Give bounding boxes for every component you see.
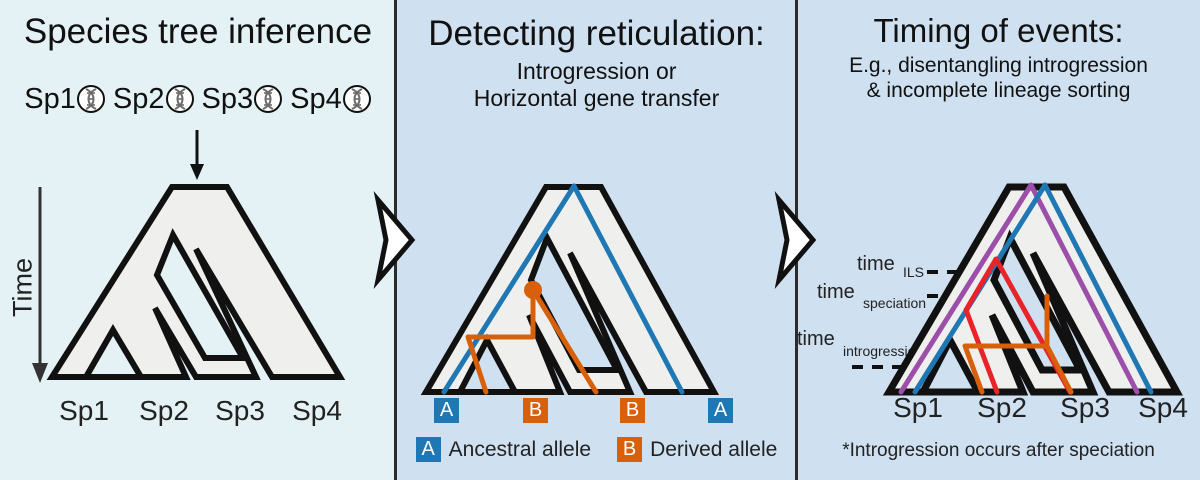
legend-chip-derived: B: [617, 437, 642, 462]
tip-allele-sp4: A: [708, 398, 733, 423]
legend-label-derived: Derived allele: [650, 438, 777, 462]
middle-panel-subtitle: Introgression or Horizontal gene transfe…: [396, 58, 797, 112]
dna-helix-icon: [76, 82, 106, 116]
tip-label-sp4: Sp4: [285, 395, 349, 427]
legend-chip-ancestral: A: [416, 437, 441, 462]
panel-species-tree-inference: Species tree inference Sp1 Sp2: [0, 0, 396, 480]
panel-timing-of-events: Timing of events: E.g., disentangling in…: [797, 0, 1200, 480]
species-sample-row: Sp1 Sp2: [0, 82, 396, 116]
dna-helix-icon: [253, 82, 283, 116]
middle-subtitle-line-2: Horizontal gene transfer: [396, 85, 797, 112]
tip-allele-sp1: A: [434, 398, 459, 423]
timing-tree-diagram: [887, 180, 1197, 410]
tip-label-sp3: Sp3: [1050, 392, 1120, 424]
legend-item-ancestral: A Ancestral allele: [416, 437, 591, 462]
time-marker-introgression-label: time: [797, 328, 835, 350]
dna-helix-icon: [342, 82, 372, 116]
tip-allele-sp3: B: [620, 398, 645, 423]
right-subtitle-line-2: & incomplete lineage sorting: [797, 79, 1200, 104]
legend-item-derived: B Derived allele: [617, 437, 777, 462]
right-panel-footnote: *Introgression occurs after speciation: [797, 440, 1200, 462]
species-sample-sp4: Sp4: [290, 82, 372, 116]
introgression-origin-dot: [524, 281, 542, 299]
dna-helix-icon: [165, 82, 195, 116]
right-subtitle-line-1: E.g., disentangling introgression: [797, 54, 1200, 79]
species-sample-label: Sp2: [113, 83, 165, 116]
species-sample-label: Sp1: [24, 83, 76, 116]
tip-label-sp1: Sp1: [883, 392, 953, 424]
middle-subtitle-line-1: Introgression or: [396, 58, 797, 85]
tip-label-sp3: Sp3: [208, 395, 272, 427]
right-panel-title: Timing of events:: [797, 14, 1200, 48]
input-arrow-icon: [183, 130, 213, 182]
tip-label-sp2: Sp2: [967, 392, 1037, 424]
tip-label-sp1: Sp1: [52, 395, 116, 427]
tip-allele-sp2: B: [523, 398, 548, 423]
species-tree-diagram: [0, 180, 396, 395]
species-sample-sp2: Sp2: [113, 82, 195, 116]
time-marker-speciation-label: time: [817, 281, 855, 303]
middle-panel-title: Detecting reticulation:: [396, 16, 797, 52]
right-panel-subtitle: E.g., disentangling introgression & inco…: [797, 54, 1200, 104]
figure-root: Species tree inference Sp1 Sp2: [0, 0, 1200, 480]
species-sample-sp1: Sp1: [24, 82, 106, 116]
species-sample-sp3: Sp3: [202, 82, 284, 116]
species-sample-label: Sp4: [290, 83, 342, 116]
reticulation-tree-diagram: [424, 180, 774, 410]
chevron-right-icon: [773, 196, 819, 284]
tip-label-sp4: Sp4: [1128, 392, 1198, 424]
species-sample-label: Sp3: [202, 83, 254, 116]
legend-label-ancestral: Ancestral allele: [449, 438, 591, 462]
allele-legend: A Ancestral allele B Derived allele: [396, 437, 797, 462]
tip-label-sp2: Sp2: [132, 395, 196, 427]
chevron-right-icon: [372, 196, 418, 284]
panel-detecting-reticulation: Detecting reticulation: Introgression or…: [396, 0, 797, 480]
left-panel-title: Species tree inference: [0, 14, 396, 50]
